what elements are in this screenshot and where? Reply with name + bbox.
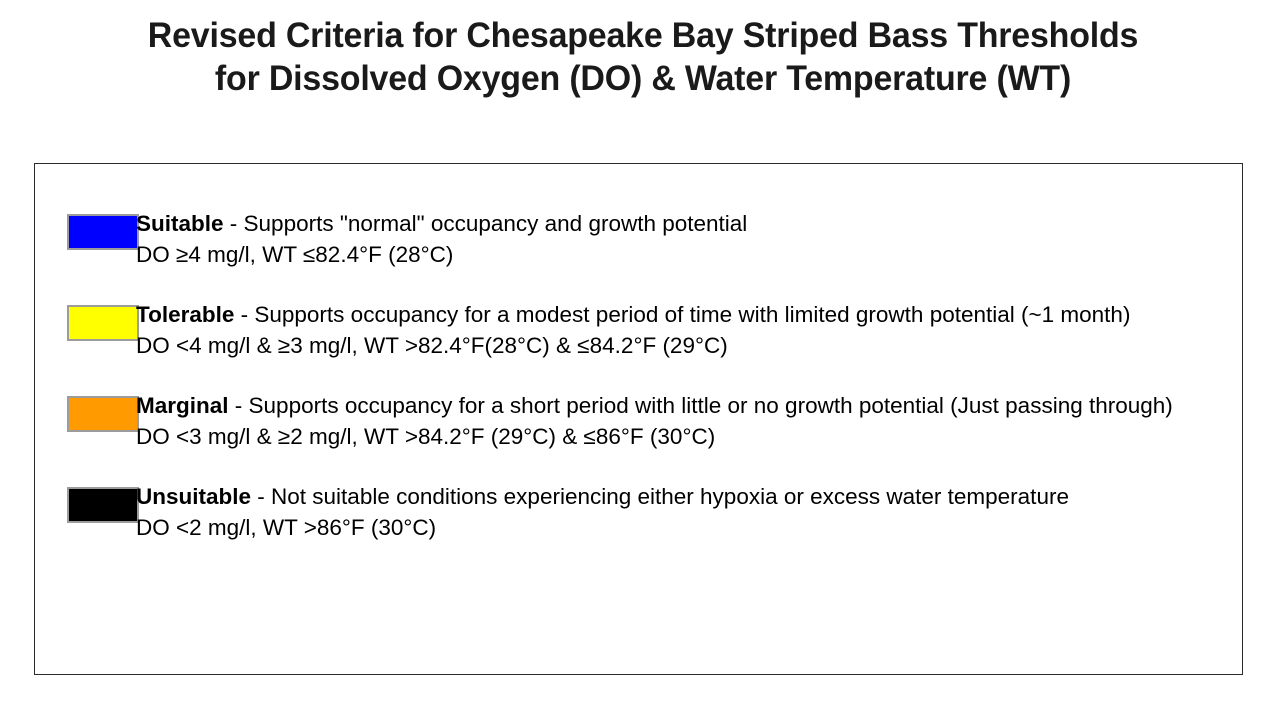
legend-description-line: Suitable - Supports "normal" occupancy a… — [136, 208, 1230, 239]
page-title-line-2: for Dissolved Oxygen (DO) & Water Temper… — [19, 57, 1266, 100]
page-title: Revised Criteria for Chesapeake Bay Stri… — [0, 14, 1286, 100]
tolerable-color-swatch — [67, 305, 139, 341]
legend-description-line: Marginal - Supports occupancy for a shor… — [136, 390, 1230, 421]
legend-list: Suitable - Supports "normal" occupancy a… — [35, 164, 1242, 543]
legend-panel: Suitable - Supports "normal" occupancy a… — [34, 163, 1243, 675]
legend-separator: - — [251, 484, 271, 509]
legend-term: Marginal — [136, 393, 229, 418]
legend-entry-text: Tolerable - Supports occupancy for a mod… — [136, 299, 1242, 361]
legend-separator: - — [224, 211, 244, 236]
swatch-cell — [35, 208, 136, 250]
legend-thresholds: DO <4 mg/l & ≥3 mg/l, WT >82.4°F(28°C) &… — [136, 330, 1230, 361]
legend-thresholds: DO <3 mg/l & ≥2 mg/l, WT >84.2°F (29°C) … — [136, 421, 1230, 452]
legend-entry-text: Unsuitable - Not suitable conditions exp… — [136, 481, 1242, 543]
swatch-cell — [35, 390, 136, 432]
legend-term: Unsuitable — [136, 484, 251, 509]
legend-description: Not suitable conditions experiencing eit… — [271, 484, 1069, 509]
legend-thresholds: DO ≥4 mg/l, WT ≤82.4°F (28°C) — [136, 239, 1230, 270]
legend-entry-marginal: Marginal - Supports occupancy for a shor… — [35, 390, 1242, 452]
legend-entry-unsuitable: Unsuitable - Not suitable conditions exp… — [35, 481, 1242, 543]
legend-term: Suitable — [136, 211, 224, 236]
legend-entry-text: Suitable - Supports "normal" occupancy a… — [136, 208, 1242, 270]
unsuitable-color-swatch — [67, 487, 139, 523]
swatch-cell — [35, 299, 136, 341]
page-title-line-1: Revised Criteria for Chesapeake Bay Stri… — [19, 14, 1266, 57]
legend-description-line: Unsuitable - Not suitable conditions exp… — [136, 481, 1230, 512]
legend-description: Supports "normal" occupancy and growth p… — [244, 211, 748, 236]
legend-entry-tolerable: Tolerable - Supports occupancy for a mod… — [35, 299, 1242, 361]
suitable-color-swatch — [67, 214, 139, 250]
legend-entry-suitable: Suitable - Supports "normal" occupancy a… — [35, 208, 1242, 270]
legend-thresholds: DO <2 mg/l, WT >86°F (30°C) — [136, 512, 1230, 543]
legend-entry-text: Marginal - Supports occupancy for a shor… — [136, 390, 1242, 452]
legend-description: Supports occupancy for a modest period o… — [254, 302, 1130, 327]
legend-separator: - — [229, 393, 249, 418]
legend-description-line: Tolerable - Supports occupancy for a mod… — [136, 299, 1230, 330]
marginal-color-swatch — [67, 396, 139, 432]
legend-term: Tolerable — [136, 302, 234, 327]
legend-separator: - — [234, 302, 254, 327]
legend-description: Supports occupancy for a short period wi… — [249, 393, 1173, 418]
swatch-cell — [35, 481, 136, 523]
